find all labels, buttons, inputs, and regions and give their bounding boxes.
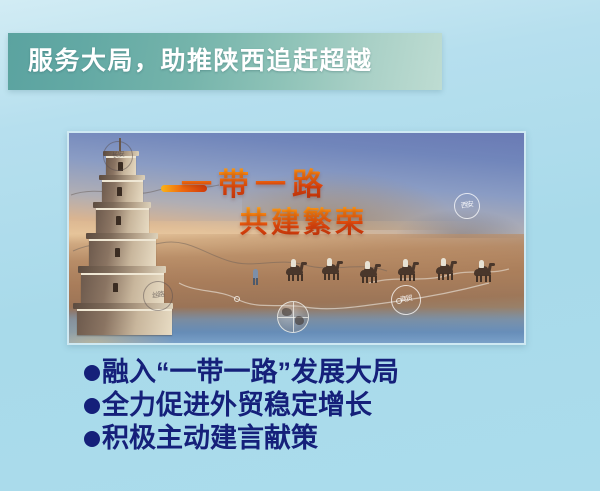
belt-and-road-illustration: 长安 丝路 西安 商贸 一带一路 共建繁荣 [69, 133, 524, 343]
pagoda-window-2 [117, 187, 122, 196]
pagoda-window-4 [115, 248, 120, 257]
bullet-item-2: 全力促进外贸稳定增长 [84, 389, 554, 422]
pagoda-tier-4 [89, 239, 156, 268]
bullet-dot-icon [84, 431, 100, 447]
caravan-walker [253, 269, 259, 285]
bullet-item-3-label: 积极主动建言献策 [102, 425, 318, 452]
giant-wild-goose-pagoda [75, 138, 187, 338]
photo-frame: 长安 丝路 西安 商贸 一带一路 共建繁荣 [67, 131, 526, 345]
bullet-dot-icon [84, 365, 100, 381]
pagoda-tier-3 [96, 208, 149, 235]
calligraphy-build-prosperity: 共建繁荣 [239, 199, 367, 241]
pagoda-window-5 [113, 283, 118, 292]
bullet-item-1: 融入“一带一路”发展大局 [84, 356, 554, 389]
pagoda-window-3 [116, 216, 121, 225]
pagoda-roof-5 [78, 266, 166, 273]
pagoda-base [77, 309, 172, 335]
caravan-camel-1 [283, 264, 309, 281]
caravan-camel-2 [319, 263, 345, 280]
slide-canvas: 服务大局，助推陕西追赶超越 [0, 0, 600, 491]
seal-text: 长安 [112, 152, 125, 161]
caravan-camel-5 [433, 263, 459, 280]
seal-text: 商贸 [400, 296, 413, 305]
bullet-item-1-label: 融入“一带一路”发展大局 [102, 359, 399, 386]
seal-text: 西安 [461, 202, 474, 211]
bullet-item-2-label: 全力促进外贸稳定增长 [102, 392, 372, 419]
title-banner: 服务大局，助推陕西追赶超越 [8, 33, 442, 90]
pagoda-tier-2 [102, 180, 143, 204]
bullet-dot-icon [84, 398, 100, 414]
bullet-list: 融入“一带一路”发展大局 全力促进外贸稳定增长 积极主动建言献策 [84, 356, 554, 455]
globe-icon [277, 301, 309, 333]
caravan-camel-6 [471, 265, 497, 282]
caravan-camel-4 [395, 264, 421, 281]
bullet-item-3: 积极主动建言献策 [84, 422, 554, 455]
calligraphy-belt-and-road: 一带一路 [181, 159, 329, 204]
seal-text: 丝路 [152, 292, 165, 301]
page-title: 服务大局，助推陕西追赶超越 [28, 49, 373, 74]
caravan-camel-3 [357, 266, 383, 283]
